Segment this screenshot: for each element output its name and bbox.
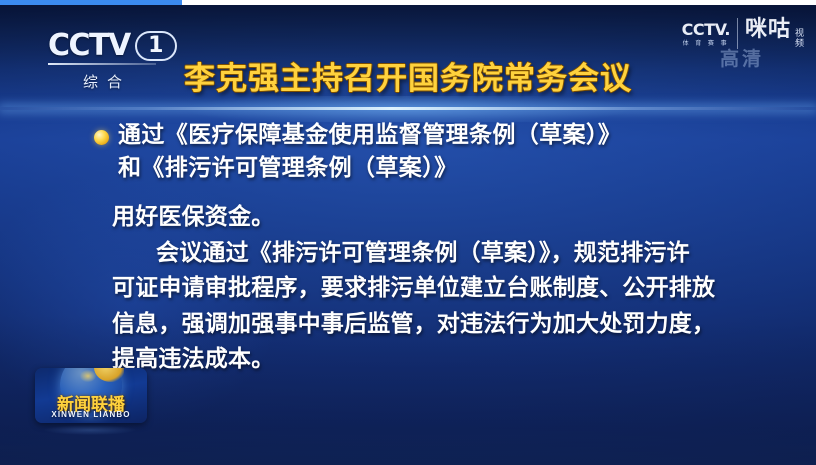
channel-logo-cctv1: CCTV 1 综合 — [48, 31, 177, 92]
bullet-line: 通过《医疗保障基金使用监督管理条例（草案）》 — [118, 118, 776, 151]
lower-third-content: 通过《医疗保障基金使用监督管理条例（草案）》 和《排污许可管理条例（草案）》 用… — [0, 118, 816, 376]
migu-wordmark: 咪咕 — [745, 18, 791, 40]
provider-watermark: CCTV. 体 育 赛 事 咪咕 视 频 — [682, 18, 804, 49]
migu-video-label: 视 频 — [795, 29, 804, 49]
progress-bar-track[interactable] — [0, 0, 816, 5]
channel-number-capsule: 1 — [135, 31, 177, 61]
watermark-cctv-subtitle: 体 育 赛 事 — [683, 41, 730, 47]
body-line: 用好医保资金。 — [112, 199, 786, 234]
header-divider — [0, 107, 816, 110]
body-line: 信息，强调加强事中事后监管，对违法行为加大处罚力度， — [112, 306, 786, 341]
watermark-cctv-wordmark: CCTV. — [682, 22, 730, 38]
body-line: 提高违法成本。 — [112, 341, 786, 376]
body-line: 会议通过《排污许可管理条例（草案）》，规范排污许 — [112, 235, 786, 270]
watermark-divider — [737, 18, 738, 49]
cctv-wordmark: CCTV — [48, 31, 130, 61]
body-paragraph: 用好医保资金。 会议通过《排污许可管理条例（草案）》，规范排污许 可证申请审批程… — [112, 199, 786, 376]
bullet-dot-icon — [94, 130, 109, 145]
channel-number: 1 — [148, 35, 163, 57]
program-bug-xinwen-lianbo: 新闻联播 XINWEN LIANBO — [35, 368, 147, 423]
program-bug-title-en: XINWEN LIANBO — [35, 410, 147, 419]
bullet-item: 通过《医疗保障基金使用监督管理条例（草案）》 和《排污许可管理条例（草案）》 — [118, 118, 776, 183]
channel-logo-row: CCTV 1 — [48, 31, 177, 61]
globe-landmass-icon — [94, 368, 124, 382]
watermark-cctv-block: CCTV. 体 育 赛 事 — [682, 18, 730, 47]
migu-logo: 咪咕 视 频 — [745, 18, 804, 49]
globe-landmass-secondary-icon — [80, 370, 96, 382]
migu-video-char-bottom: 频 — [795, 39, 804, 49]
cctv-underline-rule — [48, 63, 156, 65]
progress-bar-fill[interactable] — [0, 0, 182, 5]
bullet-line: 和《排污许可管理条例（草案）》 — [118, 151, 776, 184]
video-player-frame: CCTV 1 综合 CCTV. 体 育 赛 事 咪咕 视 频 高清 李克强主持召… — [0, 0, 816, 465]
program-bug-shadow — [44, 425, 136, 435]
body-line: 可证申请审批程序，要求排污单位建立台账制度、公开排放 — [112, 270, 786, 305]
channel-subtitle: 综合 — [48, 71, 166, 92]
